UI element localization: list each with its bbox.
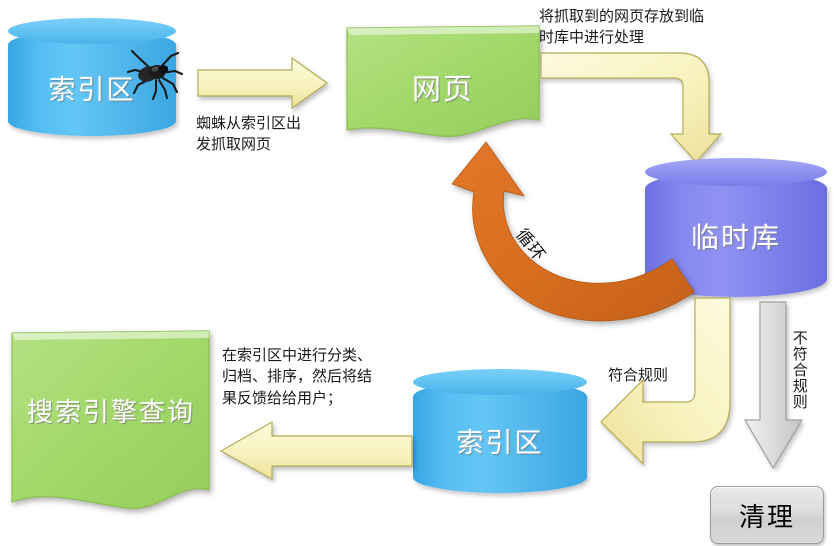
not-match-rule-label: 不符合规则: [790, 330, 809, 440]
feedback-note: 在索引区中进行分类、 归档、排序，然后将结 果反馈给给用户；: [222, 345, 422, 409]
node-label: 搜索引擎查询: [10, 392, 212, 429]
index-to-webpage-arrow[interactable]: [196, 56, 330, 112]
node-label: 网页: [345, 66, 541, 108]
node-cleanup[interactable]: 清理: [710, 486, 824, 544]
node-label: 索引区: [413, 421, 587, 460]
cylinder-top: [413, 369, 587, 395]
match-rule-label: 符合规则: [608, 365, 718, 386]
index-to-search-arrow[interactable]: [218, 418, 414, 482]
spider-icon: [126, 44, 184, 102]
node-search-query[interactable]: 搜索引擎查询: [10, 330, 212, 515]
spider-fetch-note: 蜘蛛从索引区出 发抓取网页: [196, 113, 356, 156]
node-index-zone-bottom[interactable]: 索引区: [413, 369, 587, 497]
cylinder-top: [8, 18, 176, 44]
diagram-canvas: 索引区: [0, 0, 834, 546]
store-temp-note: 将抓取到的网页存放到临 时库中进行处理: [539, 6, 769, 49]
node-webpage[interactable]: 网页: [345, 24, 541, 142]
